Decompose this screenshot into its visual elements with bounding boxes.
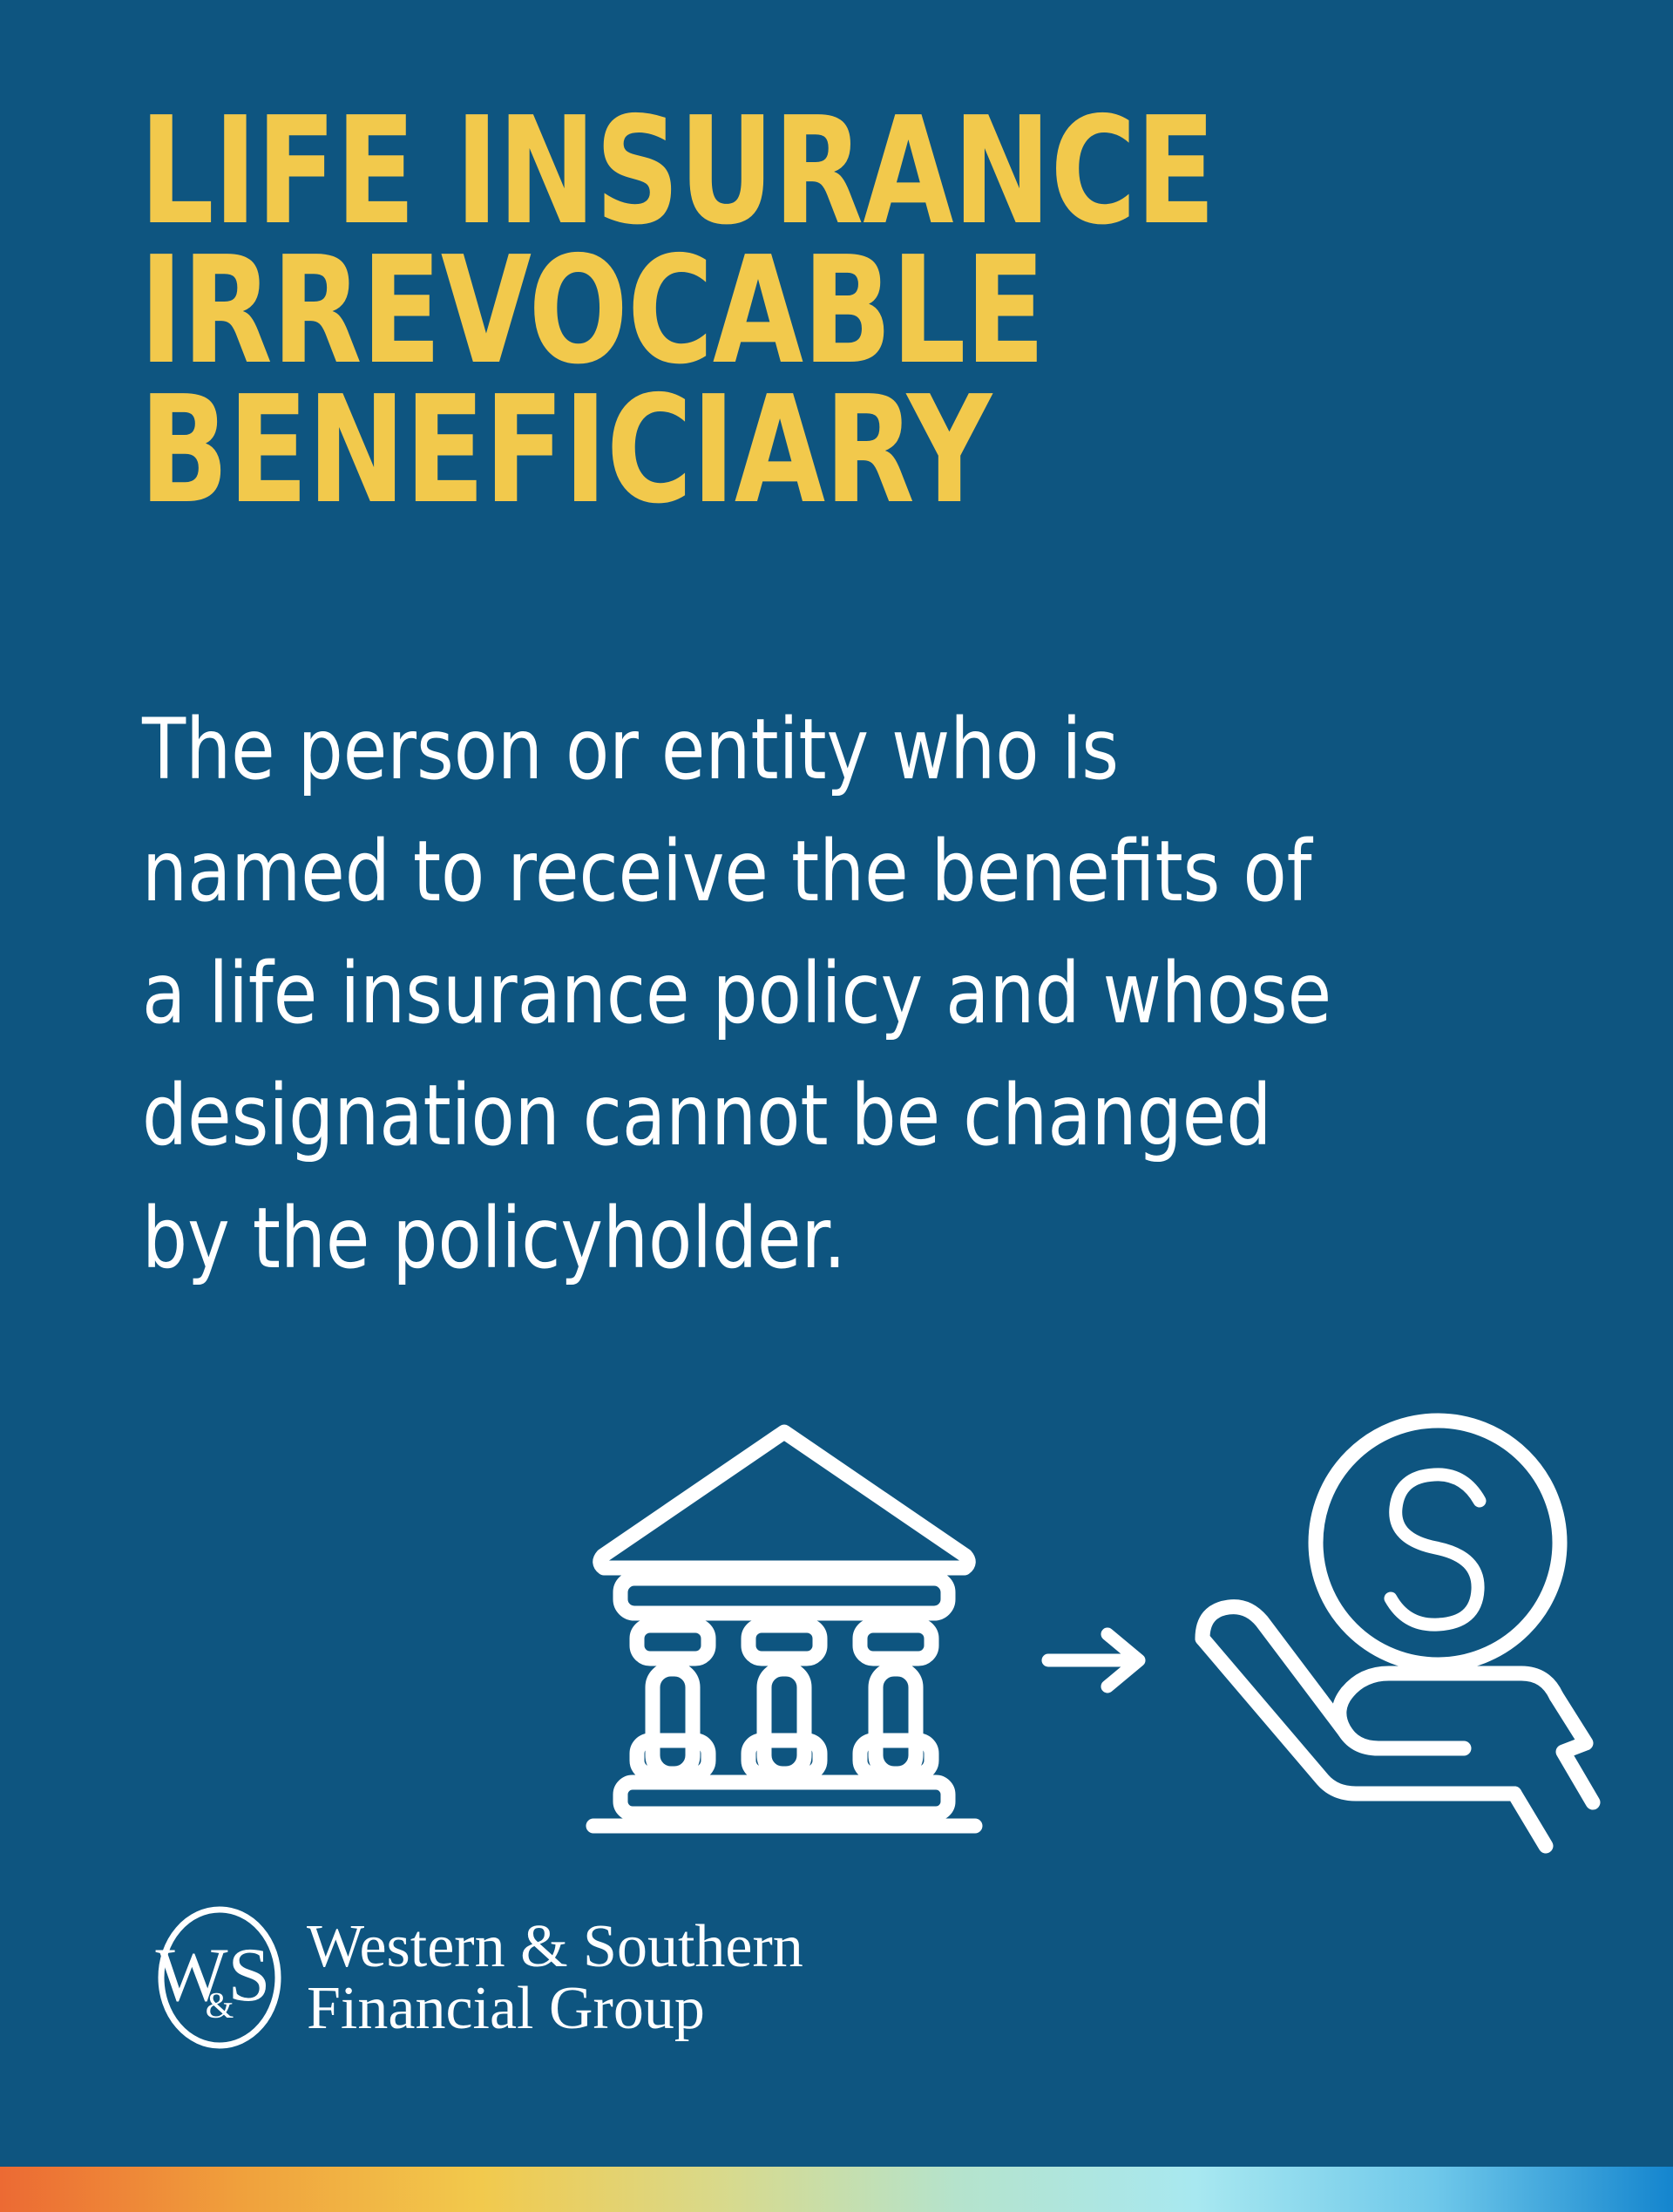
definition-line-2: named to receive the benefits of: [142, 811, 1483, 933]
title-line-1: LIFE INSURANCE: [139, 103, 1397, 242]
bank-building-icon: [579, 1416, 989, 1843]
svg-text:S: S: [228, 1933, 271, 2018]
arrow-right-icon: [1041, 1625, 1155, 1695]
definition-line-3: a life insurance policy and whose: [142, 933, 1483, 1055]
definition-line-4: designation cannot be changed: [142, 1055, 1483, 1177]
brand-wordmark: Western & Southern Financial Group: [307, 1916, 803, 2040]
title-line-2: IRREVOCABLE: [139, 242, 1397, 382]
ws-monogram-icon: W & S: [153, 1903, 286, 2053]
brand-name-line-1: Western & Southern: [307, 1916, 803, 1978]
illustration-row: [558, 1394, 1638, 1883]
infographic-poster: LIFE INSURANCE IRREVOCABLE BENEFICIARY T…: [0, 0, 1673, 2212]
hand-holding-coin-icon: [1176, 1403, 1629, 1865]
definition-line-5: by the policyholder.: [142, 1177, 1483, 1299]
page-title: LIFE INSURANCE IRREVOCABLE BENEFICIARY: [139, 103, 1568, 520]
definition-paragraph: The person or entity who is named to rec…: [142, 689, 1554, 1299]
bottom-gradient-bar: [0, 2167, 1673, 2212]
brand-name-line-2: Financial Group: [307, 1978, 803, 2039]
brand-logo: W & S Western & Southern Financial Group: [153, 1903, 803, 2053]
definition-line-1: The person or entity who is: [142, 689, 1483, 811]
title-line-3: BENEFICIARY: [139, 382, 1397, 521]
